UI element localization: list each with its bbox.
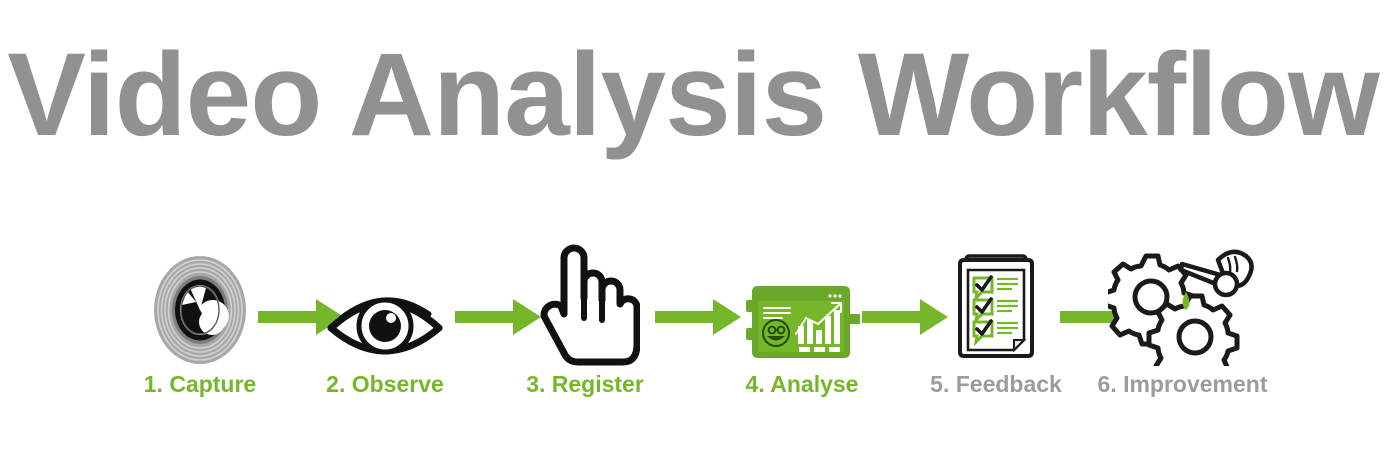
workflow-step-label: 3. Register — [520, 372, 650, 397]
workflow-step-analyse[interactable]: 4. Analyse — [740, 236, 864, 416]
workflow-step-capture[interactable]: 1. Capture — [140, 236, 260, 416]
workflow-diagram: 1. Capture 2. Observe — [0, 236, 1386, 436]
workflow-step-label: 2. Observe — [320, 372, 450, 397]
workflow-step-label: 1. Capture — [140, 372, 260, 397]
workflow-step-feedback[interactable]: 5. Feedback — [930, 236, 1062, 416]
workflow-step-label: 5. Feedback — [930, 372, 1062, 397]
workflow-step-label: 4. Analyse — [740, 372, 864, 397]
workflow-step-improvement[interactable]: 6. Improvement — [1095, 236, 1270, 416]
dashboard-chart-icon — [740, 236, 864, 366]
workflow-step-register[interactable]: 3. Register — [520, 236, 650, 416]
eye-icon — [320, 236, 450, 366]
workflow-step-observe[interactable]: 2. Observe — [320, 236, 450, 416]
workflow-step-label: 6. Improvement — [1095, 372, 1270, 397]
page-title: Video Analysis Workflow — [0, 28, 1386, 164]
pointing-hand-icon — [520, 236, 650, 366]
camera-lens-icon — [140, 236, 260, 366]
clipboard-checklist-icon — [930, 236, 1062, 366]
arrow-right-icon — [655, 296, 743, 343]
gears-oilcan-icon — [1095, 236, 1270, 366]
